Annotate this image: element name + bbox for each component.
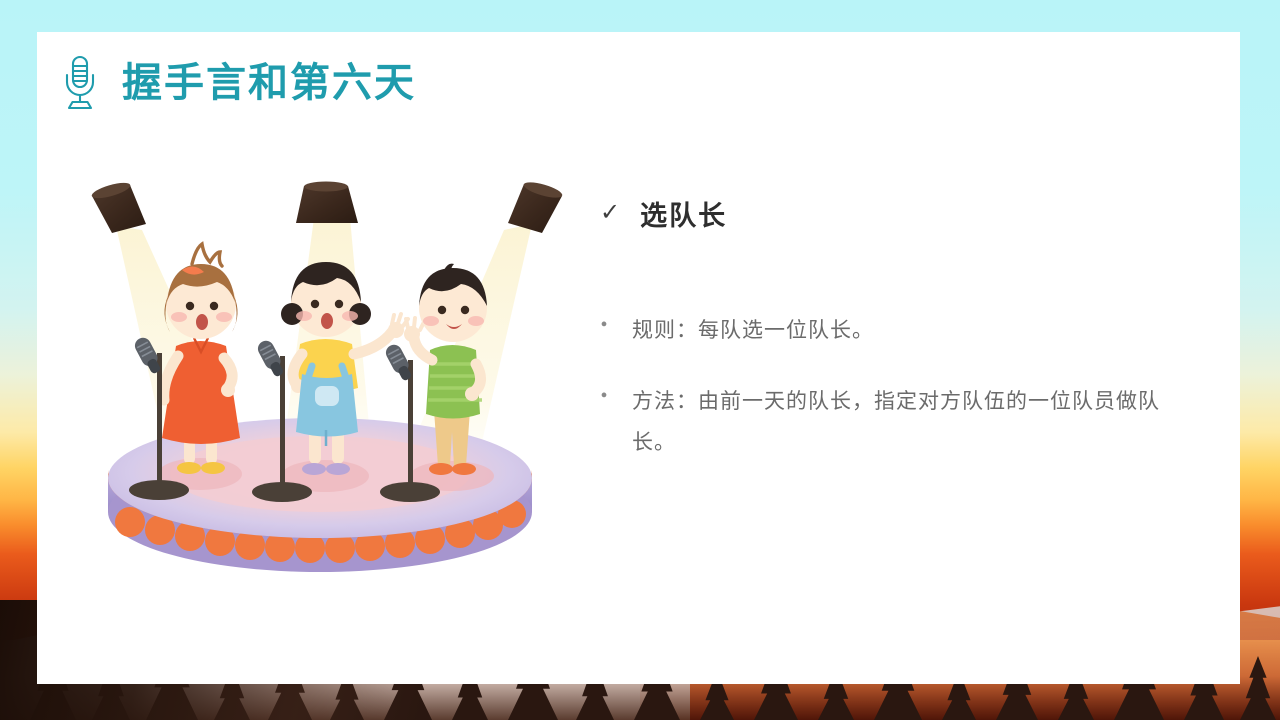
list-item: • 方法：由前一天的队长，指定对方队伍的一位队员做队长。 xyxy=(600,381,1180,463)
list-item: • 规则：每队选一位队长。 xyxy=(600,310,1180,351)
section-heading-label: 选队长 xyxy=(640,200,727,232)
page-title: 握手言和第六天 xyxy=(122,63,416,103)
list-item-text: 方法：由前一天的队长，指定对方队伍的一位队员做队长。 xyxy=(632,381,1180,463)
check-icon: ✓ xyxy=(600,200,620,228)
microphone-icon xyxy=(60,55,100,111)
content-column: ✓ 选队长 • 规则：每队选一位队长。 • 方法：由前一天的队长，指定对方队伍的… xyxy=(600,200,1180,493)
bullet-dot-icon: • xyxy=(600,381,608,412)
bullet-dot-icon: • xyxy=(600,310,608,341)
list-item-text: 规则：每队选一位队长。 xyxy=(632,310,874,351)
bullet-list: • 规则：每队选一位队长。 • 方法：由前一天的队长，指定对方队伍的一位队员做队… xyxy=(600,310,1180,463)
stage-illustration xyxy=(72,178,582,578)
slide-header: 握手言和第六天 xyxy=(60,55,416,111)
section-heading: ✓ 选队长 xyxy=(600,200,1180,232)
